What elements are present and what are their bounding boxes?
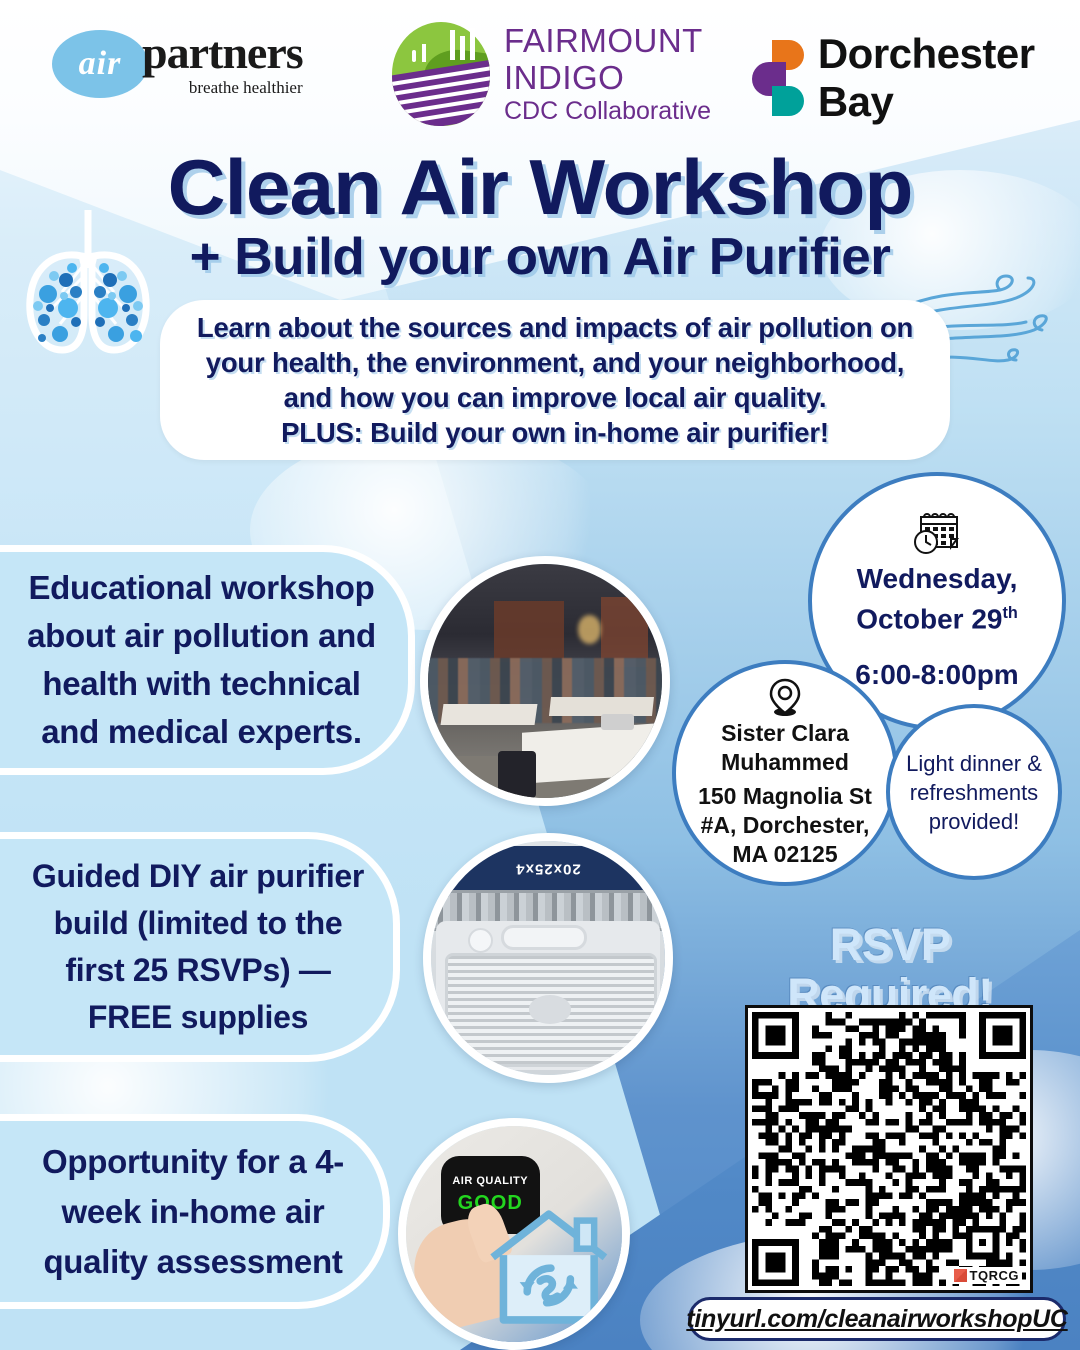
feature-text-educational-workshop: Educational workshop about air pollution… (0, 564, 408, 756)
food-line-1: Light dinner & (906, 749, 1042, 778)
box-fan-filter-photo: 20x25x4 (423, 833, 673, 1083)
dorchester-bay-logo: Dorchester Bay (752, 30, 1080, 126)
feature-text-diy-air-purifier: Guided DIY air purifier build (limited t… (0, 853, 393, 1041)
rsvp-qr-code[interactable]: TQRCG (745, 1005, 1033, 1293)
air-partners-partners-word: partners (142, 30, 303, 76)
page-title: Clean Air Workshop (0, 142, 1080, 233)
address-line-3: MA 02125 (698, 840, 872, 869)
air-partners-logo: air partners breathe healthier (52, 30, 303, 98)
workshop-audience-photo (420, 556, 670, 806)
event-date: October 29 (856, 604, 1002, 635)
rsvp-url-pill[interactable]: tinyurl.com/cleanairworkshopUC (688, 1297, 1066, 1341)
refreshments-bubble: Light dinner & refreshments provided! (886, 704, 1062, 880)
fairmount-line3: CDC Collaborative (504, 96, 711, 126)
event-date-suffix: th (1002, 604, 1017, 622)
fairmount-line1: FAIRMOUNT (504, 22, 711, 59)
dorchester-bay-mark-icon (752, 40, 804, 116)
feature-card-educational-workshop: Educational workshop about air pollution… (0, 545, 415, 775)
qr-code-image[interactable] (752, 1012, 1026, 1286)
fairmount-indigo-mark-icon (392, 22, 490, 126)
home-air-circulation-icon (484, 1199, 614, 1333)
feature-card-diy-air-purifier: Guided DIY air purifier build (limited t… (0, 832, 400, 1062)
fairmount-indigo-logo: FAIRMOUNT INDIGO CDC Collaborative (392, 22, 711, 126)
rsvp-url[interactable]: tinyurl.com/cleanairworkshopUC (686, 1305, 1067, 1334)
location-bubble: Sister Clara Muhammed 150 Magnolia St #A… (672, 660, 898, 886)
air-partners-air-word: air (79, 45, 122, 83)
air-quality-monitor-photo: AIR QUALITY GOOD (398, 1118, 630, 1350)
address-line-1: 150 Magnolia St (698, 782, 872, 811)
air-partners-tagline: breathe healthier (142, 78, 303, 98)
description-line-1: Learn about the sources and impacts of a… (197, 310, 913, 345)
page-subtitle: + Build your own Air Purifier (0, 227, 1080, 287)
description-panel: Learn about the sources and impacts of a… (160, 300, 950, 460)
monitor-label: AIR QUALITY (441, 1175, 540, 1187)
filter-size-label: 20x25x4 (515, 861, 580, 878)
feature-text-in-home-assessment: Opportunity for a 4-week in-home air qua… (0, 1137, 383, 1287)
poster-canvas: air partners breathe healthier (0, 0, 1080, 1350)
food-line-3: provided! (929, 807, 1020, 836)
map-pin-icon (768, 677, 802, 717)
fairmount-line2: INDIGO (504, 59, 711, 96)
description-line-2: your health, the environment, and your n… (206, 345, 905, 380)
venue-line-2: Muhammed (721, 748, 849, 777)
calendar-clock-icon (911, 511, 963, 557)
description-line-3: and how you can improve local air qualit… (284, 380, 827, 415)
qr-watermark: TQRCG (951, 1267, 1022, 1284)
food-line-2: refreshments (910, 778, 1038, 807)
feature-card-in-home-assessment: Opportunity for a 4-week in-home air qua… (0, 1114, 390, 1309)
address-line-2: #A, Dorchester, (698, 811, 872, 840)
event-time: 6:00-8:00pm (855, 659, 1018, 691)
logo-bar: air partners breathe healthier (0, 0, 1080, 132)
rsvp-line-1: RSVP (720, 920, 1060, 970)
venue-line-1: Sister Clara (721, 719, 849, 748)
description-line-4: PLUS: Build your own in-home air purifie… (281, 415, 829, 450)
event-day: Wednesday, (856, 561, 1018, 596)
air-partners-oval-icon: air (52, 30, 148, 98)
dorchester-bay-wordmark: Dorchester Bay (818, 30, 1080, 126)
